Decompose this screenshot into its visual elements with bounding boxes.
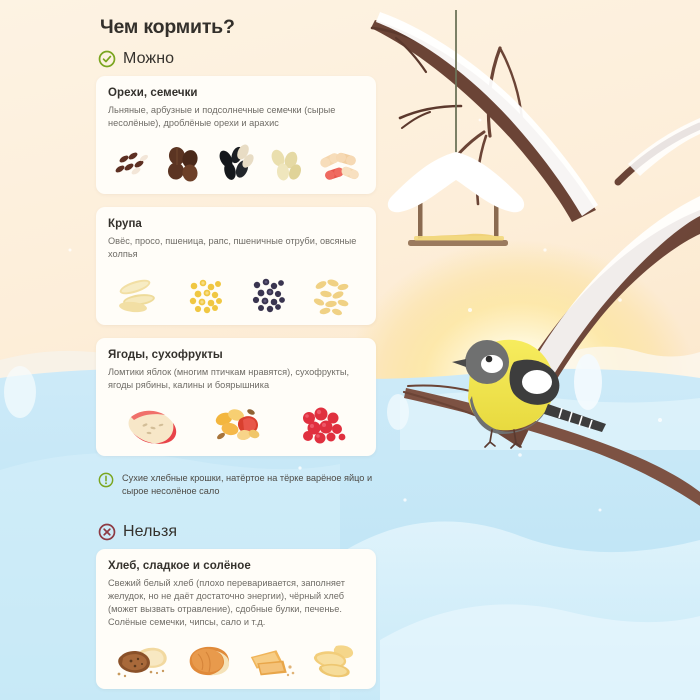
feeder-seed: [414, 236, 504, 241]
food-icon-row: [108, 139, 364, 185]
apple-slice-icon: [121, 403, 183, 447]
card-nuts-seeds: Орехи, семечки Льняные, арбузные и подсо…: [96, 76, 376, 194]
feeder-tray: [408, 240, 508, 246]
rowan-berries-icon: [295, 403, 351, 447]
card-description: Свежий белый хлеб (плохо переваривается,…: [108, 577, 364, 629]
card-description: Льняные, арбузные и подсолнечные семечки…: [108, 104, 364, 130]
wheat-grains-icon: [307, 274, 357, 316]
section-header-allowed: Можно: [96, 39, 376, 76]
card-title: Хлеб, сладкое и солёное: [108, 560, 364, 572]
dried-fruit-icon: [210, 403, 268, 447]
x-circle-icon: [98, 523, 116, 541]
card-title: Орехи, семечки: [108, 87, 364, 99]
card-grain: Крупа Овёс, просо, пшеница, рапс, пшенич…: [96, 207, 376, 325]
note-text: Сухие хлебные крошки, натёртое на тёрке …: [122, 471, 376, 498]
card-berries-dried-fruit: Ягоды, сухофрукты Ломтики яблок (многим …: [96, 338, 376, 456]
flax-seeds-icon: [111, 145, 155, 185]
infographic-root: Чем кормить? Можно Орехи, семечки Льняны…: [0, 0, 700, 700]
watermelon-seeds-icon: [264, 145, 308, 185]
food-icon-row: [108, 638, 364, 680]
sunflower-seeds-icon: [213, 143, 257, 185]
card-title: Крупа: [108, 218, 364, 230]
food-icon-row: [108, 270, 364, 316]
card-description: Овёс, просо, пшеница, рапс, пшеничные от…: [108, 235, 364, 261]
card-bread-sweet-salty: Хлеб, сладкое и солёное Свежий белый хле…: [96, 549, 376, 689]
rapeseed-icon: [244, 274, 292, 316]
bird-wing-patch: [522, 370, 552, 394]
bird-eye: [486, 356, 493, 363]
snow-mound: [387, 394, 409, 430]
check-circle-icon: [98, 50, 116, 68]
crackers-icon: [245, 642, 297, 680]
exclamation-circle-green-icon: [98, 472, 114, 488]
bread-slices-icon: [113, 642, 173, 680]
oat-grains-icon: [115, 274, 167, 316]
card-description: Ломтики яблок (многим птичкам нравятся),…: [108, 366, 364, 392]
bread-loaf-icon: [182, 642, 236, 680]
section-header-forbidden: Нельзя: [96, 512, 376, 549]
content-column: Чем кормить? Можно Орехи, семечки Льняны…: [96, 0, 376, 700]
section-label-forbidden: Нельзя: [123, 523, 177, 541]
snow-mound: [574, 354, 602, 410]
chips-icon: [306, 640, 360, 680]
food-icon-row: [108, 401, 364, 447]
card-title: Ягоды, сухофрукты: [108, 349, 364, 361]
section-label-allowed: Можно: [123, 50, 174, 68]
peanuts-icon: [315, 145, 361, 185]
brown-nuts-icon: [162, 143, 206, 185]
snow-mound: [4, 366, 36, 418]
millet-icon: [182, 274, 230, 316]
note-allowed: Сухие хлебные крошки, натёртое на тёрке …: [96, 469, 376, 498]
page-title: Чем кормить?: [96, 0, 376, 39]
